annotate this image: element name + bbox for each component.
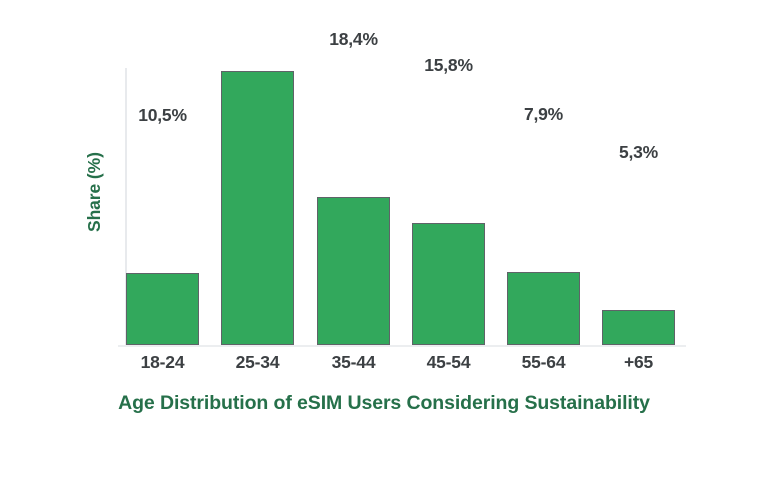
y-axis-title: Share (%)	[84, 152, 105, 232]
x-tick-label-2: 35-44	[317, 352, 390, 373]
bar[interactable]	[221, 71, 294, 345]
bar-value-label: 5,3%	[602, 142, 675, 163]
bar[interactable]	[412, 223, 485, 345]
bar-series: 10,5% 42,1% 18,4% 15,8% 7,9% 5,3%	[126, 60, 686, 345]
x-tick-label-5: +65	[602, 352, 675, 373]
bar-group-4: 7,9%	[507, 60, 580, 345]
bar-group-0: 10,5%	[126, 60, 199, 345]
bar[interactable]	[317, 197, 390, 345]
bar-value-label: 10,5%	[126, 105, 199, 126]
x-tick-label-0: 18-24	[126, 352, 199, 373]
x-tick-label-4: 55-64	[507, 352, 580, 373]
bar-chart: 10,5% 42,1% 18,4% 15,8% 7,9% 5,3% 18-24 …	[0, 0, 768, 477]
x-tick-label-1: 25-34	[221, 352, 294, 373]
x-axis-title: Age Distribution of eSIM Users Consideri…	[0, 392, 768, 415]
bar-group-5: 5,3%	[602, 60, 675, 345]
bar-value-label: 7,9%	[507, 104, 580, 125]
x-tick-label-3: 45-54	[412, 352, 485, 373]
bar[interactable]	[602, 310, 675, 345]
bar[interactable]	[507, 272, 580, 345]
bar-value-label: 18,4%	[317, 29, 390, 50]
x-axis-tick-labels: 18-24 25-34 35-44 45-54 55-64 +65	[126, 352, 686, 378]
bar-group-1: 42,1%	[221, 60, 294, 345]
bar-group-3: 15,8%	[412, 60, 485, 345]
bar-value-label: 15,8%	[412, 55, 485, 76]
bar-group-2: 18,4%	[317, 60, 390, 345]
x-axis-baseline	[118, 345, 686, 347]
bar[interactable]	[126, 273, 199, 345]
